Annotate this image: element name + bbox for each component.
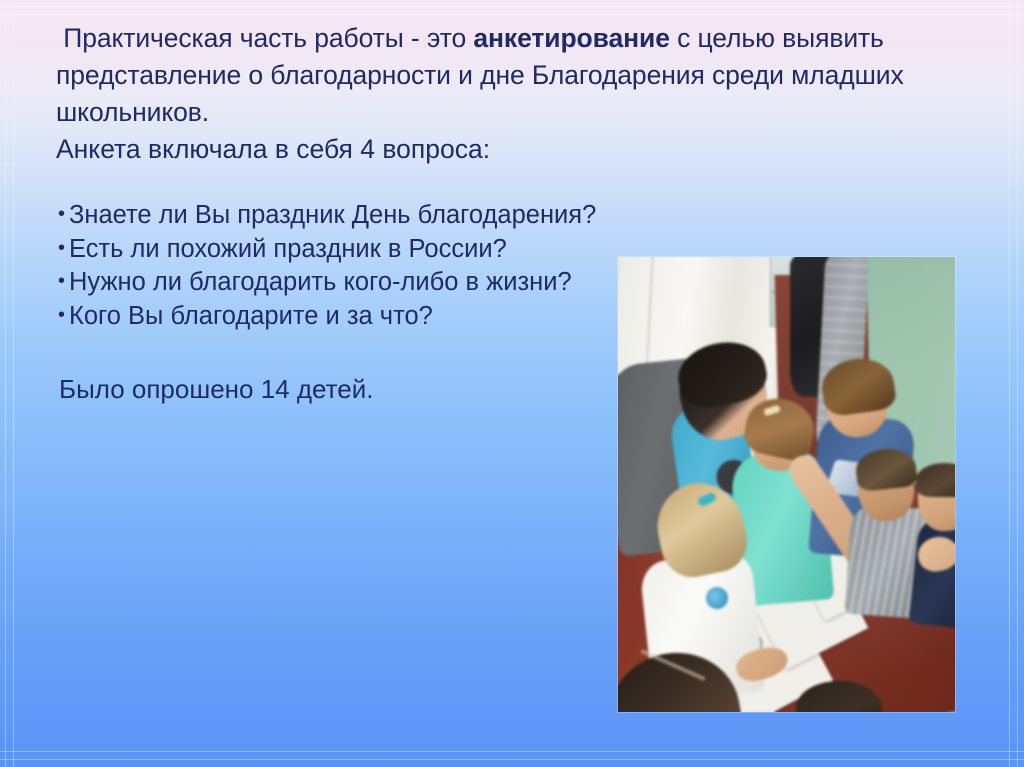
list-item: Есть ли похожий праздник в России? bbox=[58, 233, 678, 267]
list-item: Кого Вы благодарите и за что? bbox=[58, 300, 678, 334]
decorative-hairline-right-1 bbox=[1017, 0, 1018, 767]
question-list: Знаете ли Вы праздник День благодарения?… bbox=[58, 199, 678, 333]
intro-text-before-emphasis: Практическая часть работы - это bbox=[63, 23, 473, 53]
photo-scene-background: 3 bbox=[618, 257, 955, 712]
intro-paragraph: Практическая часть работы - это анкетиро… bbox=[56, 20, 936, 131]
questionnaire-intro-line: Анкета включала в себя 4 вопроса: bbox=[56, 131, 936, 168]
intro-emphasis-word: анкетирование bbox=[473, 23, 669, 53]
list-item: Нужно ли благодарить кого-либо в жизни? bbox=[58, 266, 678, 300]
decorative-hairline-bottom-1 bbox=[0, 759, 1024, 760]
decorative-hairline-left-2 bbox=[13, 0, 14, 767]
list-item: Знаете ли Вы праздник День благодарения? bbox=[58, 199, 678, 233]
summary-line: Было опрошено 14 детей. bbox=[59, 372, 373, 406]
decorative-hairline-bottom-2 bbox=[0, 751, 1024, 752]
decorative-hairline-right-2 bbox=[1009, 0, 1010, 767]
classroom-survey-photo: 3 bbox=[618, 257, 955, 712]
boy-navy-top-hair bbox=[916, 463, 955, 497]
decorative-hairline-top-1 bbox=[0, 6, 1024, 7]
slide-text-column: Практическая часть работы - это анкетиро… bbox=[56, 20, 936, 168]
decorative-hairline-top-2 bbox=[0, 14, 1024, 15]
presentation-slide: Практическая часть работы - это анкетиро… bbox=[0, 0, 1024, 767]
decorative-hairline-left-1 bbox=[5, 0, 6, 767]
